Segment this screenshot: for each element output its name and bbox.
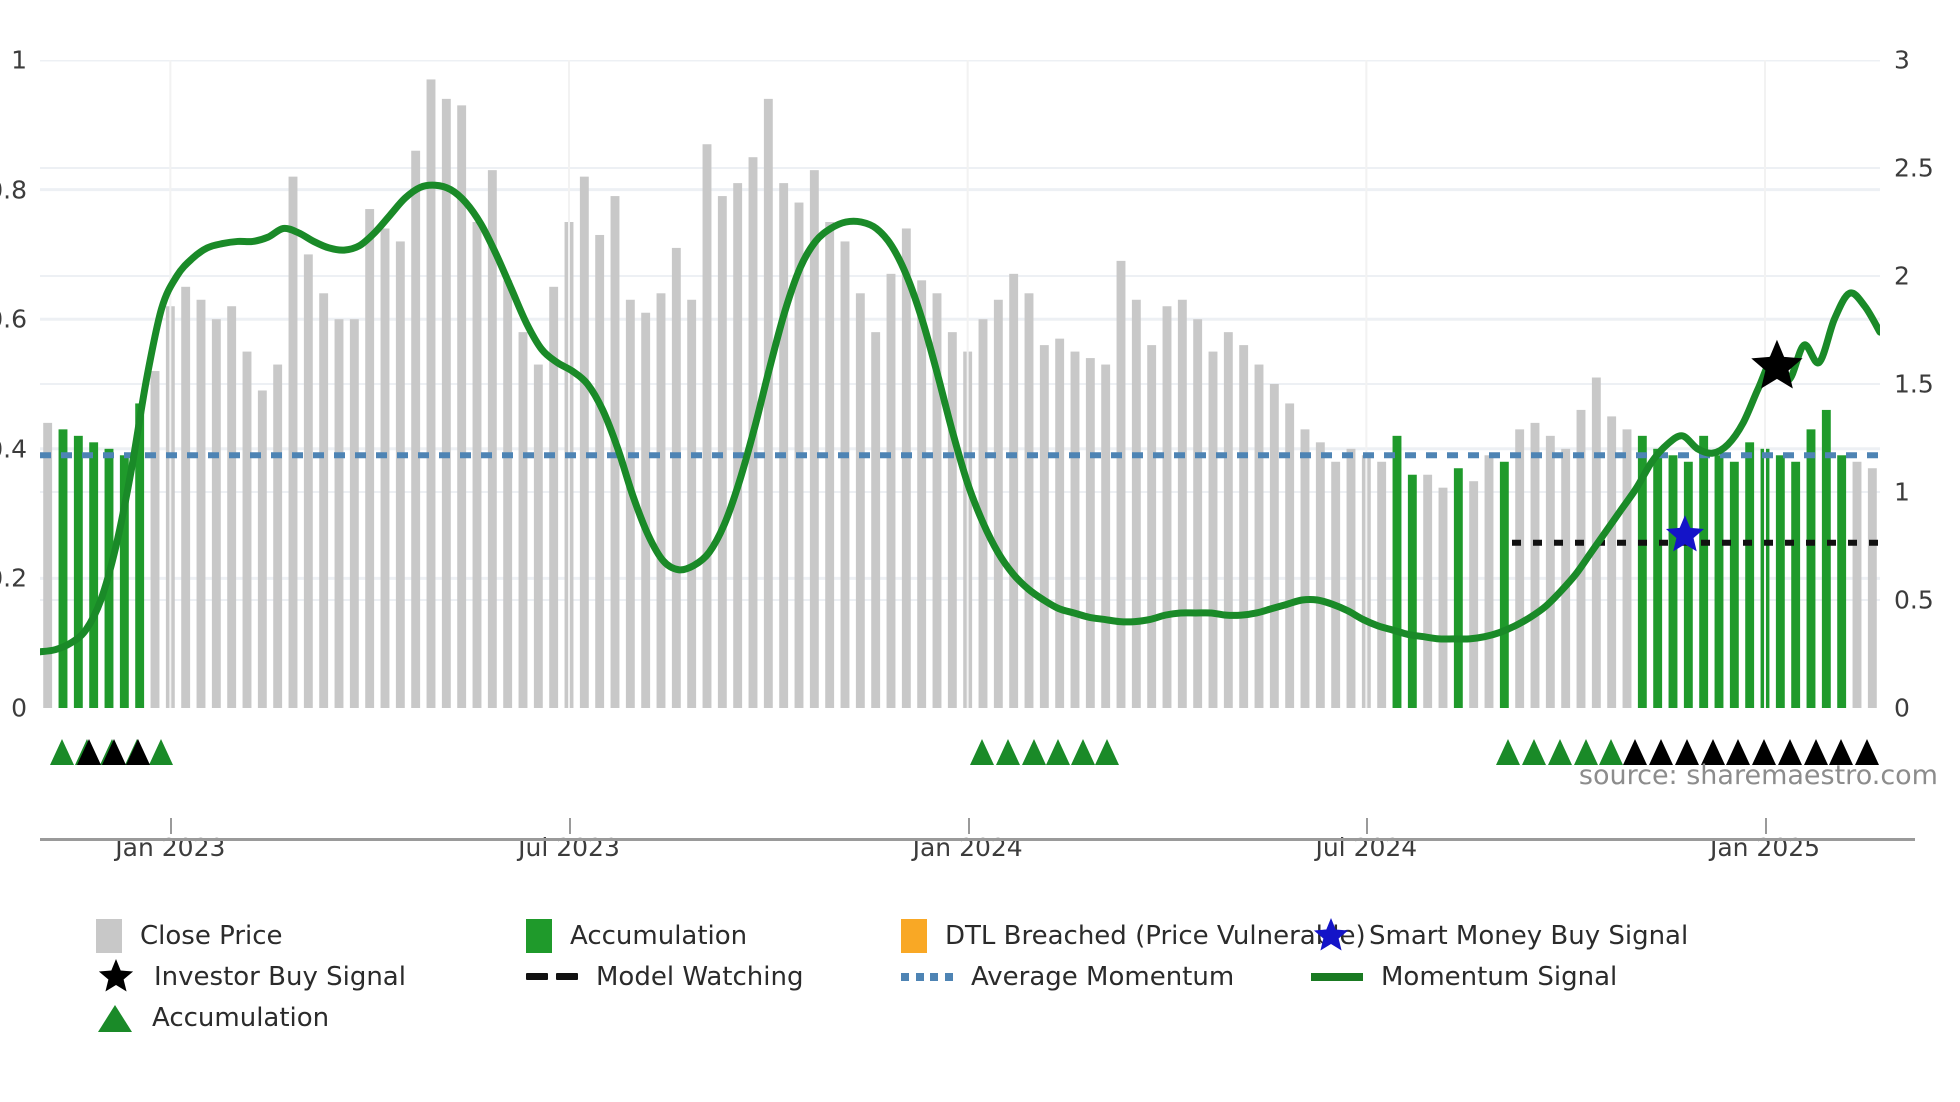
accumulation-triangle-marker (1071, 739, 1095, 765)
accumulation-triangle-marker (1548, 739, 1572, 765)
model-watching-triangle-marker (126, 739, 150, 765)
legend-label: Accumulation (152, 1003, 329, 1033)
y-axis-left-tick: 1 (11, 46, 27, 75)
dashed-line-icon (526, 973, 578, 980)
legend-label: Model Watching (596, 962, 803, 992)
dotted-line-icon (901, 973, 953, 981)
x-axis-tick (569, 818, 571, 834)
y-axis-right-tick: 3 (1894, 46, 1910, 75)
legend-label: Investor Buy Signal (154, 962, 406, 992)
accumulation-triangle-marker (1496, 739, 1520, 765)
legend-accumulation-bar[interactable]: Accumulation (526, 916, 747, 955)
y-axis-right-tick: 1.5 (1894, 370, 1934, 399)
legend-swatch-icon (526, 919, 552, 953)
star-icon (1311, 917, 1351, 955)
model-watching-triangle-marker (77, 739, 101, 765)
y-axis-left-tick: 0.4 (0, 434, 27, 463)
accumulation-triangle-marker (970, 739, 994, 765)
solid-line-icon (1311, 973, 1363, 981)
triangle-icon (96, 1002, 134, 1034)
chart-root: 00.20.40.60.81 00.511.522.53 Jan 2023Jul… (0, 0, 1960, 1102)
legend-label: Average Momentum (971, 962, 1234, 992)
legend-row: Accumulation (96, 997, 1946, 1038)
y-axis-right-tick: 2 (1894, 262, 1910, 291)
y-axis-left-tick: 0.2 (0, 564, 27, 593)
legend-smart-money-buy[interactable]: Smart Money Buy Signal (1311, 916, 1688, 955)
legend-swatch-icon (901, 919, 927, 953)
legend-label: Accumulation (570, 921, 747, 951)
legend-label: DTL Breached (Price Vulnerable) (945, 921, 1366, 951)
accumulation-triangle-marker (1522, 739, 1546, 765)
legend-model-watching[interactable]: Model Watching (526, 957, 803, 996)
x-axis-baseline (40, 838, 1915, 841)
legend-dtl-breached[interactable]: DTL Breached (Price Vulnerable) (901, 916, 1366, 955)
legend-average-momentum[interactable]: Average Momentum (901, 957, 1234, 996)
accumulation-triangle-marker (1046, 739, 1070, 765)
x-axis-tick (968, 818, 970, 834)
accumulation-triangle-marker (149, 739, 173, 765)
x-axis-tick (170, 818, 172, 834)
legend: Close PriceAccumulationDTL Breached (Pri… (96, 915, 1946, 1038)
accumulation-triangle-marker (996, 739, 1020, 765)
model-watching-triangle-marker (102, 739, 126, 765)
legend-label: Smart Money Buy Signal (1369, 921, 1688, 951)
star-icon (96, 958, 136, 996)
y-axis-left-tick: 0.8 (0, 175, 27, 204)
legend-label: Close Price (140, 921, 283, 951)
y-axis-right-tick: 2.5 (1894, 154, 1934, 183)
accumulation-triangle-marker (1095, 739, 1119, 765)
y-axis-left-tick: 0.6 (0, 305, 27, 334)
legend-swatch-icon (96, 919, 122, 953)
legend-row: Close PriceAccumulationDTL Breached (Pri… (96, 915, 1946, 956)
y-axis-right-tick: 0.5 (1894, 586, 1934, 615)
legend-close-price[interactable]: Close Price (96, 916, 283, 955)
plot-area (40, 60, 1880, 708)
plot-svg (40, 60, 1880, 708)
legend-accumulation-triangle[interactable]: Accumulation (96, 998, 329, 1037)
accumulation-triangle-marker (1022, 739, 1046, 765)
source-attribution: source: sharemaestro.com (1579, 760, 1938, 791)
accumulation-triangle-marker (50, 739, 74, 765)
y-axis-left-tick: 0 (11, 694, 27, 723)
x-axis-tick (1765, 818, 1767, 834)
legend-label: Momentum Signal (1381, 962, 1617, 992)
legend-row: Investor Buy SignalModel WatchingAverage… (96, 956, 1946, 997)
x-axis-tick (1366, 818, 1368, 834)
legend-momentum-signal[interactable]: Momentum Signal (1311, 957, 1617, 996)
legend-investor-buy[interactable]: Investor Buy Signal (96, 957, 406, 996)
y-axis-right-tick: 1 (1894, 478, 1910, 507)
y-axis-right-tick: 0 (1894, 694, 1910, 723)
